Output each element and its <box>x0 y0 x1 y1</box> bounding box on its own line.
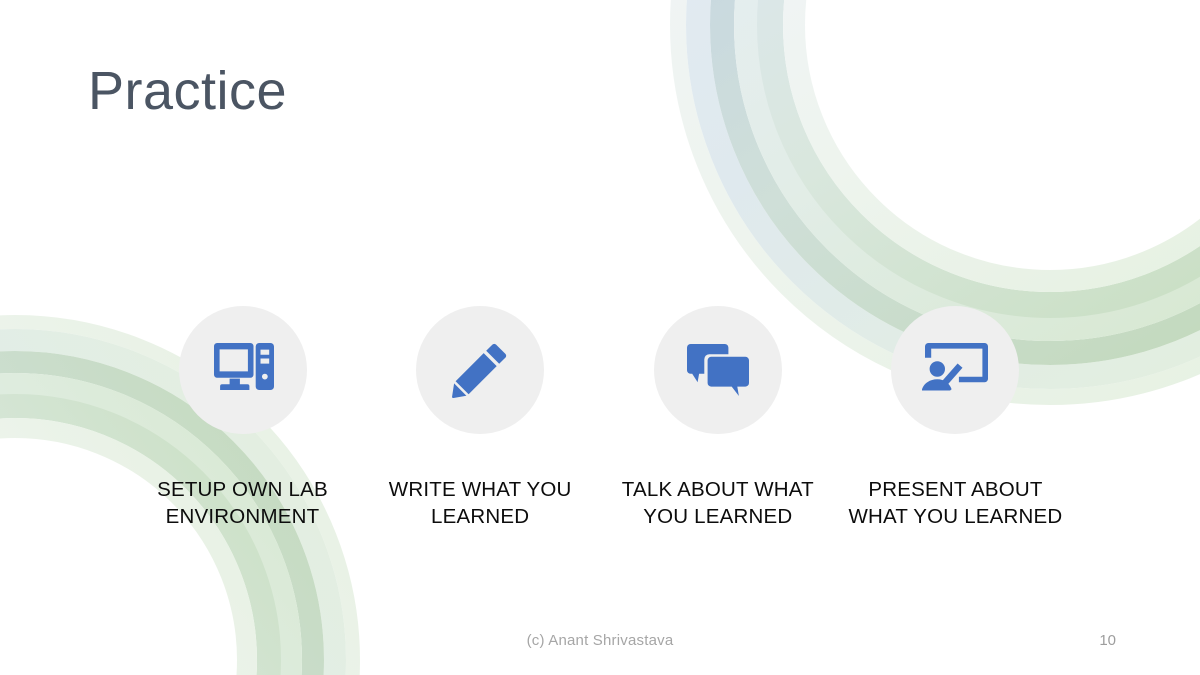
speech-bubbles-icon <box>654 306 782 434</box>
presenter-whiteboard-icon <box>891 306 1019 434</box>
list-item[interactable]: TALK ABOUT WHAT YOU LEARNED <box>599 306 836 531</box>
pencil-icon <box>416 306 544 434</box>
list-item-label: WRITE WHAT YOU LEARNED <box>389 476 572 531</box>
list-item[interactable]: WRITE WHAT YOU LEARNED <box>362 306 599 531</box>
list-item-label: SETUP OWN LAB ENVIRONMENT <box>157 476 328 531</box>
desktop-computer-icon <box>179 306 307 434</box>
page-number: 10 <box>1099 632 1116 649</box>
list-item-label: TALK ABOUT WHAT YOU LEARNED <box>622 476 814 531</box>
list-item[interactable]: SETUP OWN LAB ENVIRONMENT <box>124 306 361 531</box>
practice-items-row: SETUP OWN LAB ENVIRONMENT WRITE WHAT YOU… <box>124 306 1074 531</box>
page-title: Practice <box>88 62 287 121</box>
list-item[interactable]: PRESENT ABOUT WHAT YOU LEARNED <box>837 306 1074 531</box>
slide-canvas: Practice SETUP OWN LAB ENVIRONMENT <box>0 0 1200 675</box>
list-item-label: PRESENT ABOUT WHAT YOU LEARNED <box>849 476 1063 531</box>
footer-credit: (c) Anant Shrivastava <box>0 632 1200 649</box>
